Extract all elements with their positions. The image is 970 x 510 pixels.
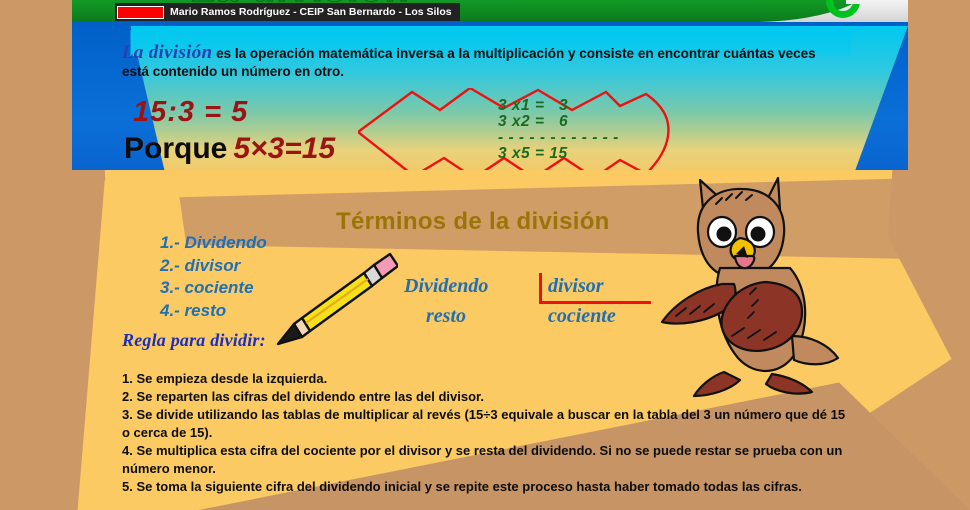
rule-item-4: 4. Se multiplica esta cifra del cociente… <box>122 442 852 478</box>
table-line-3: - - - - - - - - - - - - <box>498 129 619 146</box>
intro-body: es la operación matemática inversa a la … <box>122 46 816 79</box>
intro-paragraph: La división es la operación matemática i… <box>122 44 838 81</box>
table-line-1: 3 x1 = 3 <box>498 97 568 114</box>
because-label: Porque <box>124 132 227 165</box>
refresh-icon-mask <box>846 0 860 4</box>
schematic-divisor: divisor <box>548 275 604 298</box>
terms-item-2: 2.- divisor <box>160 256 240 275</box>
table-line-2: 3 x2 = 6 <box>498 113 568 130</box>
rule-item-3: 3. Se divide utilizando las tablas de mu… <box>122 406 852 442</box>
table-line-4: 3 x5 = 15 <box>498 145 568 162</box>
multiplication-table-lines: 3 x1 = 3 3 x2 = 6 - - - - - - - - - - - … <box>498 98 619 162</box>
owl-illustration <box>660 176 860 398</box>
rules-list: 1. Se empieza desde la izquierda. 2. Se … <box>122 370 852 496</box>
author-credit-bar: Mario Ramos Rodríguez - CEIP San Bernard… <box>115 3 460 21</box>
terms-item-3: 3.- cociente <box>160 278 254 297</box>
rule-item-5: 5. Se toma la siguiente cifra del divide… <box>122 478 852 496</box>
pencil-illustration <box>272 252 398 348</box>
terms-item-1: 1.- Dividendo <box>160 233 267 252</box>
terms-list: 1.- Dividendo 2.- divisor 3.- cociente 4… <box>160 232 267 322</box>
rule-item-2: 2. Se reparten las cifras del dividendo … <box>122 388 852 406</box>
schematic-resto: resto <box>426 305 466 328</box>
terms-section-title: Términos de la división <box>336 208 610 236</box>
slide-canvas: La división Mario Ramos Rodríguez - CEIP… <box>0 0 970 510</box>
because-equation: 5×3=15 <box>233 132 335 165</box>
author-color-swatch <box>117 6 164 19</box>
terms-item-4: 4.- resto <box>160 301 226 320</box>
example-because-line: Porque5×3=15 <box>124 132 335 166</box>
schematic-dividendo: Dividendo <box>404 275 488 298</box>
rule-heading: Regla para dividir: <box>122 330 266 351</box>
example-equation: 15:3 = 5 <box>133 96 248 129</box>
schematic-bracket-vertical <box>539 273 542 304</box>
division-schematic: Dividendo resto divisor cociente <box>404 275 664 337</box>
schematic-cociente: cociente <box>548 305 616 328</box>
schematic-bracket-horizontal <box>539 301 651 304</box>
intro-lead: La división <box>122 42 212 63</box>
author-credit-text: Mario Ramos Rodríguez - CEIP San Bernard… <box>170 6 452 18</box>
rule-item-1: 1. Se empieza desde la izquierda. <box>122 370 852 388</box>
